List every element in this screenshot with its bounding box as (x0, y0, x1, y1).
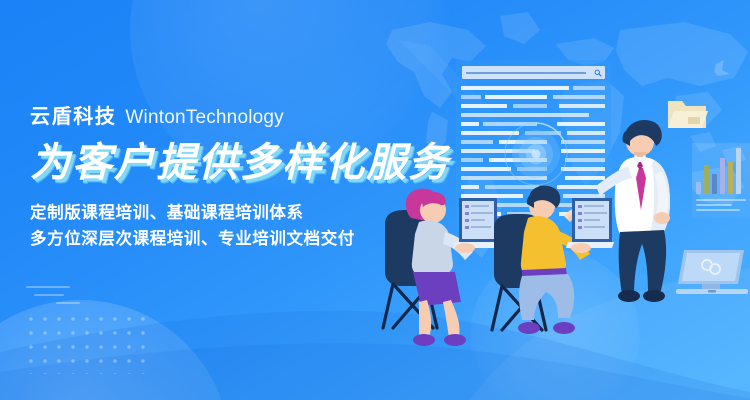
promo-banner: 云盾科技 WintonTechnology 为客户提供多样化服务 定制版课程培训… (0, 0, 750, 400)
dot-grid-pattern (24, 312, 149, 374)
chart-bar (712, 174, 717, 194)
search-input[interactable] (462, 66, 605, 79)
radar-target-graphic (504, 122, 568, 186)
headline: 为客户提供多样化服务 (30, 143, 450, 185)
chart-bar (720, 158, 725, 194)
subtitle-line: 定制版课程培训、基础课程培训体系 (30, 200, 450, 227)
brand-name-en: WintonTechnology (125, 107, 283, 129)
decorative-tick (56, 302, 80, 304)
standing-presenter (596, 118, 708, 303)
chart-bar (728, 162, 733, 194)
brand-lockup: 云盾科技 WintonTechnology (30, 100, 450, 129)
brand-name-cn: 云盾科技 (30, 100, 116, 129)
subtitle-line: 多方位深层次课程培训、专业培训文档交付 (30, 226, 450, 253)
decorative-tick (26, 286, 70, 288)
decorative-tick (34, 294, 64, 296)
subtitle-list: 定制版课程培训、基础课程培训体系 多方位深层次课程培训、专业培训文档交付 (30, 200, 450, 253)
search-icon[interactable] (594, 69, 602, 77)
search-input-text (466, 72, 586, 74)
text-content-block: 云盾科技 WintonTechnology 为客户提供多样化服务 定制版课程培训… (30, 100, 450, 253)
chart-bar (736, 148, 741, 194)
